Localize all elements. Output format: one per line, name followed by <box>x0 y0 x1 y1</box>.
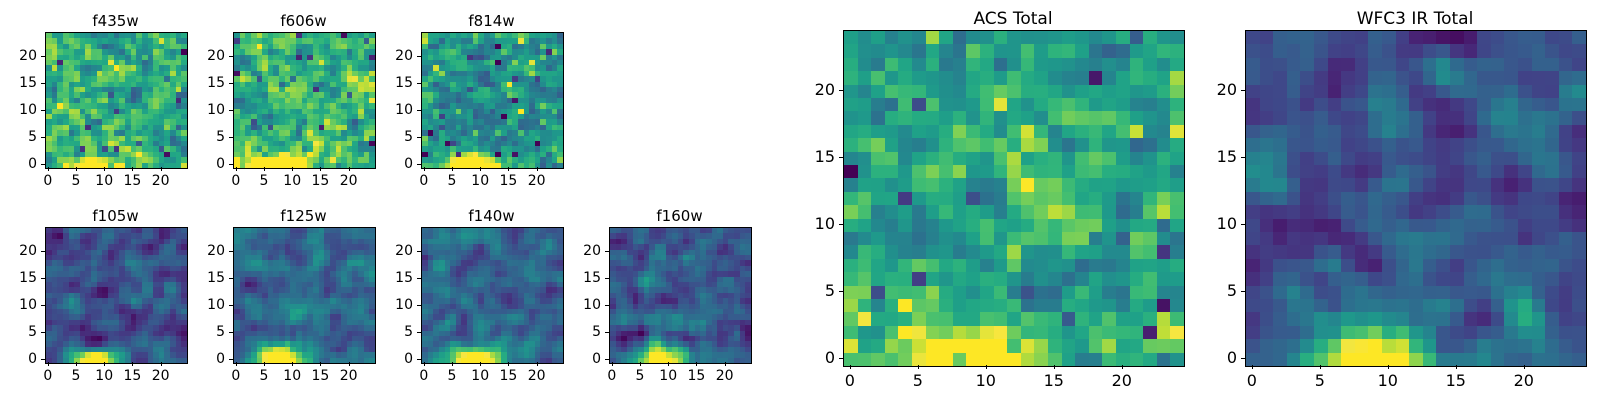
x-tick <box>104 362 105 366</box>
x-tick-label: 20 <box>141 173 181 189</box>
heatmap-cell <box>858 178 872 191</box>
heatmap-image <box>844 31 1184 366</box>
heatmap-cell <box>1089 259 1103 272</box>
heatmap-cell <box>966 245 980 258</box>
x-tick <box>264 167 265 171</box>
heatmap-cell <box>1021 44 1035 57</box>
heatmap-cell <box>939 98 953 111</box>
heatmap-cell <box>1170 205 1184 218</box>
heatmap-cell <box>1034 178 1048 191</box>
y-tick <box>229 83 233 84</box>
heatmap-cell <box>1102 192 1116 205</box>
heatmap-image <box>46 228 187 363</box>
heatmap-cell <box>953 178 967 191</box>
y-tick-label: 15 <box>189 75 225 91</box>
heatmap-cell <box>871 125 885 138</box>
heatmap-cell <box>1130 71 1144 84</box>
heatmap-cell <box>1143 245 1157 258</box>
heatmap-cell <box>1116 205 1130 218</box>
heatmap-cell <box>939 178 953 191</box>
heatmap-cell <box>912 178 926 191</box>
heatmap-cell <box>871 44 885 57</box>
heatmap-cell <box>912 259 926 272</box>
heatmap-cell <box>1048 152 1062 165</box>
heatmap-cell <box>1048 165 1062 178</box>
heatmap-cell <box>1157 165 1171 178</box>
heatmap-image <box>234 228 375 363</box>
heatmap-cell <box>1062 219 1076 232</box>
heatmap-cell <box>1089 85 1103 98</box>
heatmap-cell <box>980 44 994 57</box>
heatmap-cell <box>1007 232 1021 245</box>
heatmap-cell <box>1170 152 1184 165</box>
heatmap-axes <box>609 227 752 364</box>
heatmap-cell <box>1116 125 1130 138</box>
heatmap-cell <box>898 85 912 98</box>
heatmap-cell <box>1089 71 1103 84</box>
heatmap-cell <box>926 192 940 205</box>
heatmap-cell <box>1034 111 1048 124</box>
heatmap-cell <box>1170 58 1184 71</box>
heatmap-cell <box>858 245 872 258</box>
heatmap-cell <box>926 71 940 84</box>
heatmap-cell <box>871 71 885 84</box>
heatmap-cell <box>885 98 899 111</box>
heatmap-cell <box>1102 219 1116 232</box>
heatmap-cell <box>1048 85 1062 98</box>
heatmap-cell <box>966 58 980 71</box>
heatmap-cell <box>1102 165 1116 178</box>
heatmap-cell <box>1021 178 1035 191</box>
heatmap-cell <box>1157 98 1171 111</box>
heatmap-cell <box>1021 245 1035 258</box>
x-tick <box>725 362 726 366</box>
panel-title: f125w <box>233 205 374 227</box>
heatmap-cell <box>1130 44 1144 57</box>
x-tick <box>161 167 162 171</box>
heatmap-cell <box>966 232 980 245</box>
heatmap-cell <box>871 219 885 232</box>
heatmap-cell <box>858 71 872 84</box>
heatmap-cell <box>885 192 899 205</box>
heatmap-cell <box>926 85 940 98</box>
y-tick-label: 15 <box>377 75 413 91</box>
heatmap-cell <box>1089 245 1103 258</box>
heatmap-cell <box>1062 44 1076 57</box>
x-tick <box>320 167 321 171</box>
heatmap-cell <box>1034 31 1048 44</box>
y-tick-label: 0 <box>377 351 413 367</box>
heatmap-cell <box>939 219 953 232</box>
heatmap-cell <box>1116 165 1130 178</box>
y-tick <box>417 137 421 138</box>
heatmap-cell <box>980 192 994 205</box>
heatmap-cell <box>898 152 912 165</box>
heatmap-cell <box>1034 152 1048 165</box>
heatmap-cell <box>844 152 858 165</box>
heatmap-cell <box>885 232 899 245</box>
y-tick <box>417 359 421 360</box>
heatmap-cell <box>1075 165 1089 178</box>
heatmap-cell <box>939 192 953 205</box>
heatmap-cell <box>1048 245 1062 258</box>
heatmap-cell <box>885 111 899 124</box>
heatmap-cell <box>1007 245 1021 258</box>
figure-canvas: f435w0510152005101520f606w05101520051015… <box>0 0 1600 400</box>
heatmap-cell <box>858 205 872 218</box>
x-tick <box>668 362 669 366</box>
heatmap-cell <box>994 165 1008 178</box>
heatmap-cell <box>844 44 858 57</box>
x-tick <box>264 362 265 366</box>
heatmap-cell <box>953 259 967 272</box>
heatmap-cell <box>1021 111 1035 124</box>
heatmap-cell <box>926 125 940 138</box>
heatmap-cell <box>1062 152 1076 165</box>
heatmap-cell <box>939 111 953 124</box>
heatmap-cell <box>966 178 980 191</box>
heatmap-cell <box>844 272 858 285</box>
heatmap-cell <box>939 245 953 258</box>
heatmap-cell <box>1075 259 1089 272</box>
heatmap-cell <box>980 138 994 151</box>
x-tick <box>508 167 509 171</box>
y-tick-label: 20 <box>189 48 225 64</box>
heatmap-cell <box>858 165 872 178</box>
heatmap-cell <box>1130 125 1144 138</box>
heatmap-cell <box>912 58 926 71</box>
heatmap-cell <box>844 125 858 138</box>
heatmap-cell <box>1048 71 1062 84</box>
heatmap-cell <box>844 245 858 258</box>
heatmap-cell <box>1007 98 1021 111</box>
heatmap-cell <box>1143 111 1157 124</box>
heatmap-cell <box>1048 138 1062 151</box>
heatmap-cell <box>926 219 940 232</box>
heatmap-cell <box>1062 98 1076 111</box>
y-tick <box>417 110 421 111</box>
y-tick-label: 20 <box>1 243 37 259</box>
heatmap-cell <box>1021 98 1035 111</box>
x-tick-label: 20 <box>705 368 745 384</box>
heatmap-cell <box>1143 44 1157 57</box>
heatmap-cell <box>1102 205 1116 218</box>
heatmap-cell <box>912 125 926 138</box>
heatmap-cell <box>1130 152 1144 165</box>
y-tick-label: 15 <box>377 270 413 286</box>
heatmap-cell <box>898 44 912 57</box>
x-tick <box>480 167 481 171</box>
y-tick-label: 0 <box>1 156 37 172</box>
y-tick <box>41 359 45 360</box>
heatmap-cell <box>1075 152 1089 165</box>
heatmap-cell <box>871 165 885 178</box>
x-tick <box>76 362 77 366</box>
x-tick <box>480 362 481 366</box>
heatmap-cell <box>557 163 563 168</box>
heatmap-cell <box>1007 152 1021 165</box>
heatmap-cell <box>1062 232 1076 245</box>
heatmap-cell <box>966 165 980 178</box>
heatmap-cell <box>953 31 967 44</box>
heatmap-cell <box>1034 165 1048 178</box>
heatmap-cell <box>1089 219 1103 232</box>
heatmap-cell <box>912 152 926 165</box>
heatmap-cell <box>1143 138 1157 151</box>
x-tick <box>132 167 133 171</box>
heatmap-cell <box>844 165 858 178</box>
heatmap-cell <box>844 259 858 272</box>
heatmap-cell <box>1034 44 1048 57</box>
heatmap-cell <box>1157 219 1171 232</box>
heatmap-cell <box>885 125 899 138</box>
heatmap-cell <box>1089 98 1103 111</box>
heatmap-cell <box>1130 98 1144 111</box>
heatmap-cell <box>1089 205 1103 218</box>
heatmap-cell <box>1102 138 1116 151</box>
heatmap-cell <box>953 138 967 151</box>
y-tick <box>417 278 421 279</box>
heatmap-cell <box>1170 165 1184 178</box>
heatmap-cell <box>1116 85 1130 98</box>
panel-title: f140w <box>421 205 562 227</box>
heatmap-cell <box>1130 111 1144 124</box>
heatmap-cell <box>885 85 899 98</box>
heatmap-cell <box>1062 71 1076 84</box>
heatmap-cell <box>1007 138 1021 151</box>
heatmap-cell <box>926 232 940 245</box>
y-tick-label: 5 <box>377 129 413 145</box>
x-tick <box>76 167 77 171</box>
heatmap-cell <box>1007 58 1021 71</box>
heatmap-cell <box>885 138 899 151</box>
heatmap-cell <box>1075 232 1089 245</box>
panel-f814w: f814w0510152005101520 <box>377 10 578 201</box>
heatmap-cell <box>994 111 1008 124</box>
heatmap-cell <box>966 152 980 165</box>
heatmap-cell <box>1116 152 1130 165</box>
heatmap-cell <box>980 165 994 178</box>
heatmap-cell <box>939 85 953 98</box>
heatmap-cell <box>1034 232 1048 245</box>
y-tick <box>229 305 233 306</box>
heatmap-cell <box>1170 192 1184 205</box>
heatmap-cell <box>1130 232 1144 245</box>
heatmap-cell <box>1157 205 1171 218</box>
heatmap-cell <box>1089 165 1103 178</box>
heatmap-cell <box>994 192 1008 205</box>
heatmap-cell <box>939 259 953 272</box>
heatmap-cell <box>871 232 885 245</box>
heatmap-cell <box>1007 192 1021 205</box>
heatmap-cell <box>1130 58 1144 71</box>
heatmap-cell <box>1021 85 1035 98</box>
heatmap-cell <box>898 259 912 272</box>
heatmap-cell <box>871 58 885 71</box>
heatmap-cell <box>1021 259 1035 272</box>
y-tick-label: 20 <box>189 243 225 259</box>
panel-f140w: f140w0510152005101520 <box>377 205 578 396</box>
heatmap-cell <box>1170 178 1184 191</box>
y-tick-label: 15 <box>189 270 225 286</box>
y-tick-label: 0 <box>189 351 225 367</box>
heatmap-cell <box>912 44 926 57</box>
heatmap-image <box>234 33 375 168</box>
heatmap-cell <box>1089 192 1103 205</box>
heatmap-cell <box>1157 71 1171 84</box>
heatmap-cell <box>1170 85 1184 98</box>
y-tick-label: 0 <box>377 156 413 172</box>
heatmap-cell <box>858 152 872 165</box>
heatmap-cell <box>939 205 953 218</box>
heatmap-cell <box>885 178 899 191</box>
heatmap-cell <box>1116 219 1130 232</box>
heatmap-cell <box>1048 205 1062 218</box>
heatmap-cell <box>1130 165 1144 178</box>
panel-title: f606w <box>233 10 374 32</box>
heatmap-cell <box>912 165 926 178</box>
heatmap-cell <box>1062 125 1076 138</box>
panel-f606w: f606w0510152005101520 <box>189 10 390 201</box>
heatmap-cell <box>1048 178 1062 191</box>
heatmap-cell <box>966 138 980 151</box>
heatmap-cell <box>1102 152 1116 165</box>
heatmap-cell <box>557 358 563 363</box>
heatmap-cell <box>1130 259 1144 272</box>
heatmap-cell <box>1116 178 1130 191</box>
heatmap-cell <box>1062 245 1076 258</box>
y-tick-label: 20 <box>377 48 413 64</box>
heatmap-cell <box>1143 85 1157 98</box>
heatmap-cell <box>953 192 967 205</box>
heatmap-cell <box>1143 98 1157 111</box>
heatmap-cell <box>844 58 858 71</box>
heatmap-cell <box>898 205 912 218</box>
y-tick <box>417 56 421 57</box>
heatmap-cell <box>898 192 912 205</box>
y-tick <box>41 251 45 252</box>
heatmap-cell <box>871 205 885 218</box>
y-tick <box>229 251 233 252</box>
heatmap-cell <box>966 71 980 84</box>
heatmap-cell <box>994 125 1008 138</box>
heatmap-cell <box>898 232 912 245</box>
y-tick <box>229 332 233 333</box>
heatmap-cell <box>1130 205 1144 218</box>
heatmap-cell <box>1034 259 1048 272</box>
heatmap-cell <box>939 232 953 245</box>
heatmap-cell <box>1170 31 1184 44</box>
heatmap-cell <box>844 71 858 84</box>
heatmap-cell <box>1170 98 1184 111</box>
heatmap-cell <box>1034 125 1048 138</box>
heatmap-cell <box>1143 152 1157 165</box>
x-tick <box>320 362 321 366</box>
heatmap-cell <box>966 205 980 218</box>
heatmap-image <box>610 228 751 363</box>
heatmap-cell <box>1102 71 1116 84</box>
heatmap-axes <box>45 227 188 364</box>
heatmap-cell <box>1116 71 1130 84</box>
heatmap-cell <box>898 58 912 71</box>
x-tick <box>161 362 162 366</box>
x-tick <box>612 362 613 366</box>
heatmap-cell <box>181 358 187 363</box>
y-tick-label: 10 <box>377 102 413 118</box>
heatmap-cell <box>1048 232 1062 245</box>
heatmap-cell <box>1089 125 1103 138</box>
heatmap-cell <box>1075 245 1089 258</box>
heatmap-cell <box>1034 192 1048 205</box>
heatmap-cell <box>871 85 885 98</box>
heatmap-cell <box>885 31 899 44</box>
heatmap-cell <box>898 219 912 232</box>
heatmap-cell <box>898 125 912 138</box>
y-tick <box>229 278 233 279</box>
y-tick <box>229 164 233 165</box>
heatmap-cell <box>1170 111 1184 124</box>
heatmap-cell <box>1048 125 1062 138</box>
heatmap-cell <box>1130 31 1144 44</box>
heatmap-cell <box>1157 178 1171 191</box>
heatmap-cell <box>912 245 926 258</box>
heatmap-cell <box>994 31 1008 44</box>
x-tick <box>537 362 538 366</box>
heatmap-cell <box>1075 205 1089 218</box>
y-tick <box>605 332 609 333</box>
heatmap-cell <box>980 152 994 165</box>
heatmap-cell <box>994 98 1008 111</box>
heatmap-cell <box>1089 111 1103 124</box>
y-tick <box>41 56 45 57</box>
heatmap-cell <box>871 259 885 272</box>
y-tick-label: 10 <box>377 297 413 313</box>
heatmap-cell <box>1075 125 1089 138</box>
heatmap-cell <box>1116 138 1130 151</box>
heatmap-cell <box>980 111 994 124</box>
heatmap-cell <box>1130 85 1144 98</box>
heatmap-cell <box>885 259 899 272</box>
heatmap-cell <box>980 125 994 138</box>
heatmap-cell <box>926 178 940 191</box>
heatmap-cell <box>1170 232 1184 245</box>
heatmap-cell <box>994 58 1008 71</box>
heatmap-cell <box>1048 98 1062 111</box>
y-tick <box>41 164 45 165</box>
heatmap-cell <box>871 152 885 165</box>
heatmap-cell <box>980 245 994 258</box>
y-tick <box>229 56 233 57</box>
y-tick-label: 0 <box>1 351 37 367</box>
heatmap-cell <box>1157 58 1171 71</box>
heatmap-cell <box>926 138 940 151</box>
heatmap-cell <box>953 205 967 218</box>
x-tick <box>236 167 237 171</box>
heatmap-cell <box>1021 125 1035 138</box>
heatmap-cell <box>953 125 967 138</box>
heatmap-cell <box>1102 44 1116 57</box>
heatmap-cell <box>1021 31 1035 44</box>
heatmap-cell <box>1075 71 1089 84</box>
heatmap-cell <box>912 138 926 151</box>
y-tick <box>229 110 233 111</box>
heatmap-cell <box>926 44 940 57</box>
x-tick <box>132 362 133 366</box>
heatmap-cell <box>1048 58 1062 71</box>
heatmap-cell <box>1130 178 1144 191</box>
heatmap-cell <box>1143 165 1157 178</box>
heatmap-cell <box>369 163 375 168</box>
